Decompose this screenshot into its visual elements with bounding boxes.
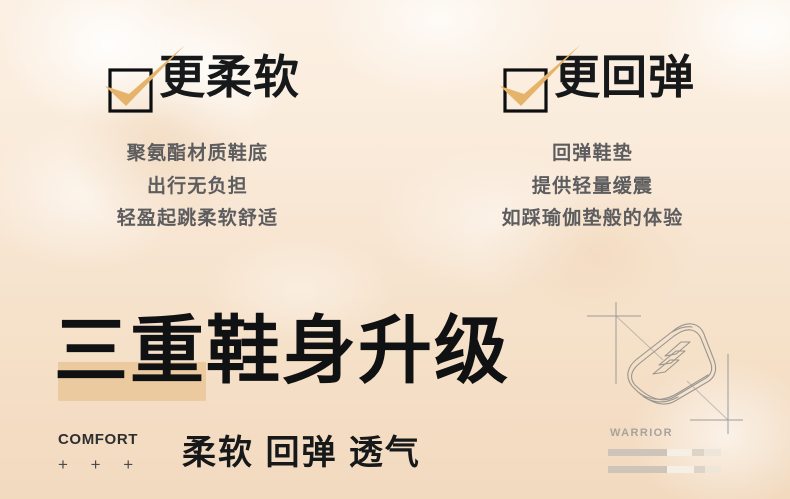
feature-line: 聚氨酯材质鞋底 [117,138,279,171]
brand-label: WARRIOR [610,428,673,439]
meter-segment [608,449,667,456]
spec-meter [608,466,721,473]
shoe-illustration-panel: WARRIOR [575,288,790,499]
meter-segment [667,466,694,473]
feature-description: 聚氨酯材质鞋底 出行无负担 轻盈起跳柔软舒适 [117,138,279,236]
feature-description: 回弹鞋垫 提供轻量缓震 如踩瑜伽垫般的体验 [502,138,684,236]
promo-poster: 更柔软 聚氨酯材质鞋底 出行无负担 轻盈起跳柔软舒适 更回弹 回弹鞋垫 [0,0,790,499]
feature-line: 回弹鞋垫 [502,138,684,171]
feature-columns: 更柔软 聚氨酯材质鞋底 出行无负担 轻盈起跳柔软舒适 更回弹 回弹鞋垫 [0,38,790,236]
feature-heading: 更柔软 [95,38,300,116]
checkbox-checked-glyph [93,42,193,120]
feature-line: 轻盈起跳柔软舒适 [117,203,279,236]
sneaker-outline-icon [575,288,790,448]
keyword-list: 柔软 回弹 透气 [182,436,421,470]
page-title: 三重鞋身升级 [54,312,510,390]
meter-segment [692,449,704,456]
spec-meter [608,449,721,456]
comfort-label: COMFORT [58,432,178,447]
headline-block: 三重鞋身升级 [54,312,510,404]
feature-heading: 更回弹 [490,38,695,116]
comfort-plus-marks: + + + [58,456,178,473]
feature-column-soft: 更柔软 聚氨酯材质鞋底 出行无负担 轻盈起跳柔软舒适 [0,38,395,236]
checkbox-checked-glyph [488,42,588,120]
meter-segment [667,449,692,456]
checkbox-checked-icon [490,46,542,108]
feature-line: 如踩瑜伽垫般的体验 [502,203,684,236]
meter-segment [704,449,721,456]
checkbox-checked-icon [95,46,147,108]
meter-segment [608,466,667,473]
comfort-block: COMFORT + + + [58,432,178,473]
meter-segment [694,466,705,473]
feature-column-rebound: 更回弹 回弹鞋垫 提供轻量缓震 如踩瑜伽垫般的体验 [395,38,790,236]
meter-segment [705,466,721,473]
feature-line: 出行无负担 [117,171,279,204]
feature-line: 提供轻量缓震 [502,171,684,204]
